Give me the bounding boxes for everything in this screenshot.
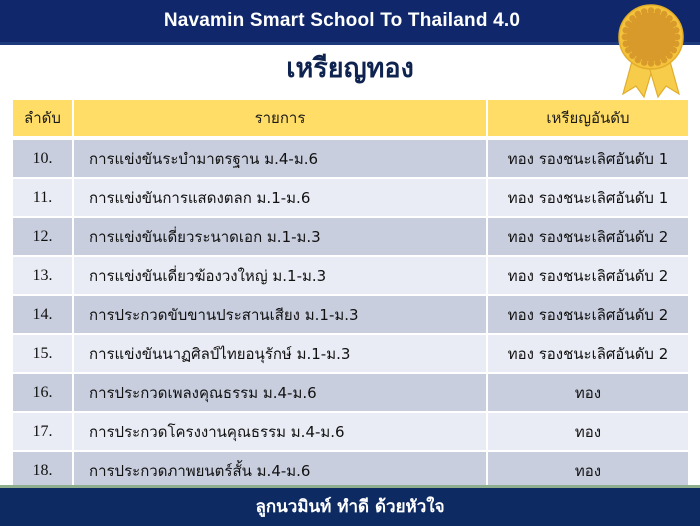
- row-number: 14.: [13, 295, 73, 334]
- row-item-name: การประกวดเพลงคุณธรรม ม.4-ม.6: [73, 373, 487, 412]
- table-header-row: ลำดับ รายการ เหรียญอันดับ: [13, 100, 688, 138]
- row-number: 17.: [13, 412, 73, 451]
- row-medal-rank: ทอง รองชนะเลิศอันดับ 1: [487, 178, 688, 217]
- table-header: ลำดับ รายการ เหรียญอันดับ: [13, 100, 688, 138]
- row-item-name: การแข่งขันเดี่ยวฆ้องวงใหญ่ ม.1-ม.3: [73, 256, 487, 295]
- table-row: 15. การแข่งขันนาฏศิลป์ไทยอนุรักษ์ ม.1-ม.…: [13, 334, 688, 373]
- row-item-name: การแข่งขันระบำมาตรฐาน ม.4-ม.6: [73, 138, 487, 178]
- table-row: 12. การแข่งขันเดี่ยวระนาดเอก ม.1-ม.3 ทอง…: [13, 217, 688, 256]
- row-medal-rank: ทอง: [487, 373, 688, 412]
- row-medal-rank: ทอง: [487, 412, 688, 451]
- row-item-name: การแข่งขันการแสดงตลก ม.1-ม.6: [73, 178, 487, 217]
- row-number: 13.: [13, 256, 73, 295]
- row-medal-rank: ทอง รองชนะเลิศอันดับ 1: [487, 138, 688, 178]
- row-number: 12.: [13, 217, 73, 256]
- footer-slogan: ลูกนวมินท์ ทำดี ด้วยหัวใจ: [0, 488, 700, 526]
- row-number: 11.: [13, 178, 73, 217]
- row-medal-rank: ทอง รองชนะเลิศอันดับ 2: [487, 256, 688, 295]
- row-medal-rank: ทอง รองชนะเลิศอันดับ 2: [487, 217, 688, 256]
- page-title: เหรียญทอง: [0, 45, 700, 93]
- row-item-name: การแข่งขันนาฏศิลป์ไทยอนุรักษ์ ม.1-ม.3: [73, 334, 487, 373]
- banner-title: Navamin Smart School To Thailand 4.0: [0, 0, 700, 42]
- row-item-name: การประกวดโครงงานคุณธรรม ม.4-ม.6: [73, 412, 487, 451]
- awards-table: ลำดับ รายการ เหรียญอันดับ 10. การแข่งขัน…: [13, 100, 688, 491]
- row-number: 16.: [13, 373, 73, 412]
- row-medal-rank: ทอง รองชนะเลิศอันดับ 2: [487, 295, 688, 334]
- table-body: 10. การแข่งขันระบำมาตรฐาน ม.4-ม.6 ทอง รอ…: [13, 138, 688, 490]
- table-row: 16. การประกวดเพลงคุณธรรม ม.4-ม.6 ทอง: [13, 373, 688, 412]
- column-header-item: รายการ: [73, 100, 487, 138]
- row-item-name: การแข่งขันเดี่ยวระนาดเอก ม.1-ม.3: [73, 217, 487, 256]
- row-number: 10.: [13, 138, 73, 178]
- column-header-medal: เหรียญอันดับ: [487, 100, 688, 138]
- column-header-no: ลำดับ: [13, 100, 73, 138]
- table-row: 17. การประกวดโครงงานคุณธรรม ม.4-ม.6 ทอง: [13, 412, 688, 451]
- table-row: 11. การแข่งขันการแสดงตลก ม.1-ม.6 ทอง รอง…: [13, 178, 688, 217]
- row-number: 15.: [13, 334, 73, 373]
- row-item-name: การประกวดขับขานประสานเสียง ม.1-ม.3: [73, 295, 487, 334]
- table-row: 14. การประกวดขับขานประสานเสียง ม.1-ม.3 ท…: [13, 295, 688, 334]
- table-row: 10. การแข่งขันระบำมาตรฐาน ม.4-ม.6 ทอง รอ…: [13, 138, 688, 178]
- row-medal-rank: ทอง รองชนะเลิศอันดับ 2: [487, 334, 688, 373]
- table-row: 13. การแข่งขันเดี่ยวฆ้องวงใหญ่ ม.1-ม.3 ท…: [13, 256, 688, 295]
